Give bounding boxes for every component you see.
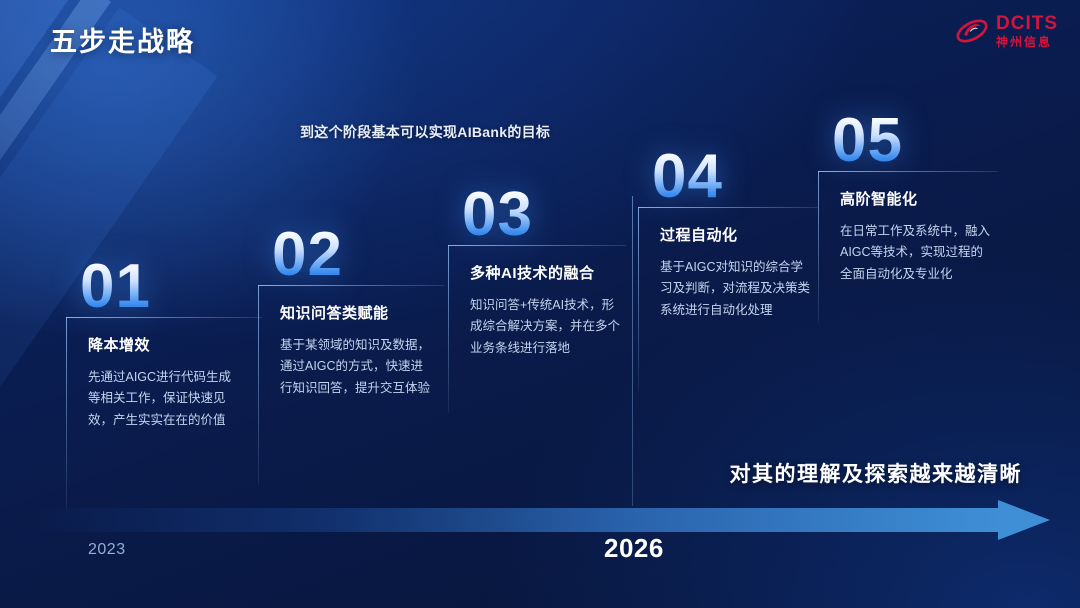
logo-text-en: DCITS bbox=[996, 14, 1058, 33]
card-left-line bbox=[638, 207, 639, 391]
step-number-01: 01 bbox=[80, 258, 262, 317]
step-02[interactable]: 02 知识问答类赋能 基于某领域的知识及数据，通过AIGC的方式，快速进行知识回… bbox=[258, 226, 444, 399]
step-03[interactable]: 03 多种AI技术的融合 知识问答+传统AI技术，形成综合解决方案，并在多个业务… bbox=[448, 186, 626, 359]
step-body-02: 基于某领域的知识及数据，通过AIGC的方式，快速进行知识回答，提升交互体验 bbox=[280, 335, 432, 400]
step-body-05: 在日常工作及系统中，融入AIGC等技术，实现过程的全面自动化及专业化 bbox=[840, 221, 992, 286]
step-number-03: 03 bbox=[462, 186, 626, 245]
card-left-line bbox=[258, 285, 259, 485]
step-body-03: 知识问答+传统AI技术，形成综合解决方案，并在多个业务条线进行落地 bbox=[470, 295, 620, 360]
card-left-line bbox=[448, 245, 449, 413]
stage-annotation: 到这个阶段基本可以实现AIBank的目标 bbox=[300, 122, 550, 142]
step-card-02: 知识问答类赋能 基于某领域的知识及数据，通过AIGC的方式，快速进行知识回答，提… bbox=[258, 285, 444, 400]
step-card-01: 降本增效 先通过AIGC进行代码生成等相关工作，保证快速见效，产生实实在在的价值 bbox=[66, 317, 262, 432]
page-title: 五步走战略 bbox=[50, 20, 195, 59]
step-card-03: 多种AI技术的融合 知识问答+传统AI技术，形成综合解决方案，并在多个业务条线进… bbox=[448, 245, 626, 360]
brand-logo: DCITS 神州信息 bbox=[955, 14, 1058, 48]
right-arrow-icon bbox=[998, 500, 1050, 540]
slide-canvas: 五步走战略 DCITS 神州信息 到这个阶段基本可以实现AIBank的目标 01… bbox=[0, 0, 1080, 608]
step-number-04: 04 bbox=[652, 148, 818, 207]
step-body-01: 先通过AIGC进行代码生成等相关工作，保证快速见效，产生实实在在的价值 bbox=[88, 367, 240, 432]
card-left-line bbox=[66, 317, 67, 509]
slogan-text: 对其的理解及探索越来越清晰 bbox=[730, 458, 1023, 488]
step-title-02: 知识问答类赋能 bbox=[280, 302, 438, 323]
logo-text-cn: 神州信息 bbox=[996, 36, 1058, 48]
step-card-05: 高阶智能化 在日常工作及系统中，融入AIGC等技术，实现过程的全面自动化及专业化 bbox=[818, 171, 998, 286]
card-left-line bbox=[818, 171, 819, 323]
step-title-01: 降本增效 bbox=[88, 334, 256, 355]
step-05[interactable]: 05 高阶智能化 在日常工作及系统中，融入AIGC等技术，实现过程的全面自动化及… bbox=[818, 112, 998, 285]
timeline-year-start: 2023 bbox=[88, 541, 126, 559]
timeline-arrow bbox=[40, 500, 1050, 540]
timeline-arrow-bar bbox=[40, 508, 1002, 532]
step-number-02: 02 bbox=[272, 226, 444, 285]
step-01[interactable]: 01 降本增效 先通过AIGC进行代码生成等相关工作，保证快速见效，产生实实在在… bbox=[66, 258, 262, 431]
swirl-logo-icon bbox=[955, 14, 989, 48]
logo-wordmark: DCITS 神州信息 bbox=[996, 14, 1058, 48]
section-divider-line bbox=[632, 196, 633, 506]
step-body-04: 基于AIGC对知识的综合学习及判断，对流程及决策类系统进行自动化处理 bbox=[660, 257, 812, 322]
step-number-05: 05 bbox=[832, 112, 998, 171]
step-title-04: 过程自动化 bbox=[660, 224, 812, 245]
step-title-05: 高阶智能化 bbox=[840, 188, 992, 209]
timeline-year-end: 2026 bbox=[604, 533, 664, 564]
step-04[interactable]: 04 过程自动化 基于AIGC对知识的综合学习及判断，对流程及决策类系统进行自动… bbox=[638, 148, 818, 321]
step-card-04: 过程自动化 基于AIGC对知识的综合学习及判断，对流程及决策类系统进行自动化处理 bbox=[638, 207, 818, 322]
step-title-03: 多种AI技术的融合 bbox=[470, 262, 620, 283]
stage-annotation-text: 到这个阶段基本可以实现AIBank的目标 bbox=[300, 124, 550, 140]
